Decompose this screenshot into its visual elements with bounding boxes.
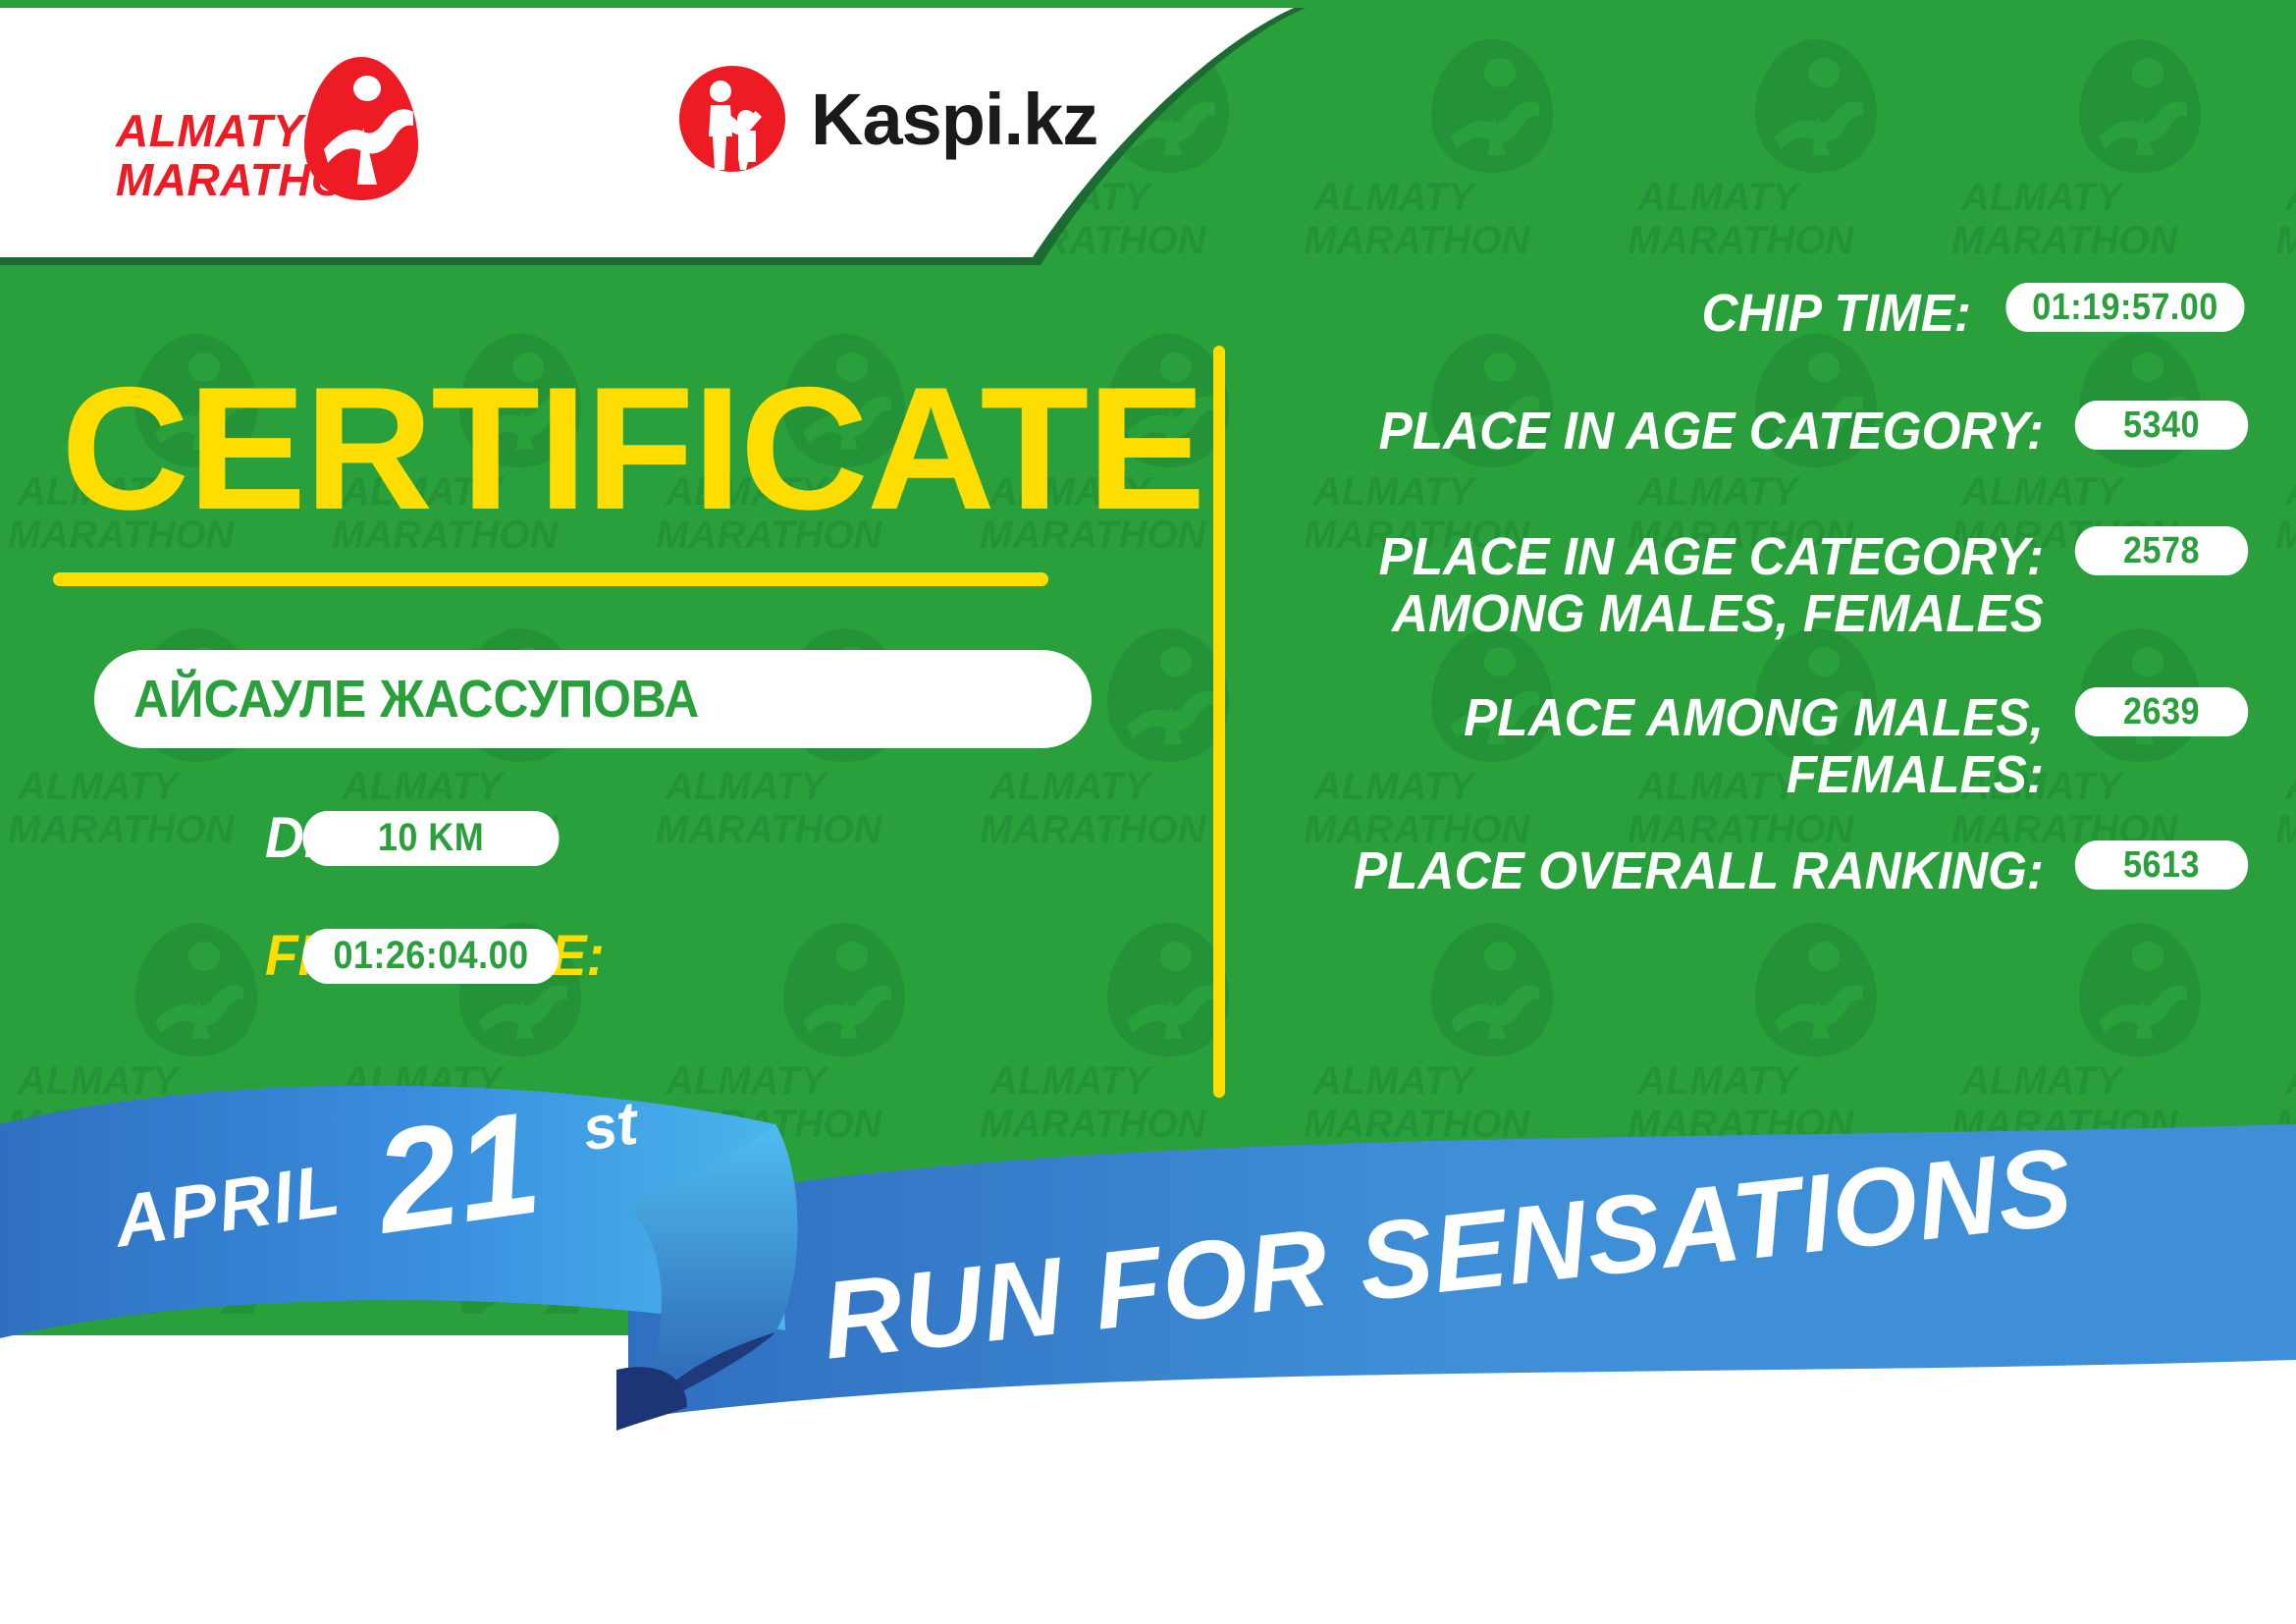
place-age-value: 5340 [2075, 401, 2248, 450]
result-row-place-gender: PLACE AMONG MALES, FEMALES: 2639 [1266, 687, 2258, 803]
title-underline-rule [53, 572, 1048, 586]
finish-time-value: 01:26:04.00 [303, 929, 560, 984]
distance-row: DISTANCE: 10 KM [265, 805, 573, 871]
result-row-place-age: PLACE IN AGE CATEGORY: 5340 [1266, 401, 2258, 460]
header-logos: ALMATY MARATHON [0, 8, 1178, 263]
kaspi-wordmark: Kaspi.kz [811, 78, 1097, 161]
finish-time-row: FINISH TIME: 01:26:04.00 [265, 923, 573, 989]
result-row-place-overall: PLACE OVERALL RANKING: 5613 [1266, 840, 2258, 899]
ribbon-ordinal: st [578, 1089, 641, 1165]
top-green-stripe [0, 0, 2296, 8]
athlete-name-field: АЙСАУЛЕ ЖАССУПОВА [94, 650, 1092, 748]
kaspi-logo: Kaspi.kz [677, 65, 1097, 173]
result-row-chip-time: CHIP TIME: 01:19:57.00 [1266, 283, 2258, 342]
athlete-name-value: АЙСАУЛЕ ЖАССУПОВА [133, 650, 699, 748]
place-overall-value: 5613 [2075, 840, 2248, 890]
certificate-canvas: ALMATY MARATHON ALMATY MARATHON [0, 0, 2296, 1624]
almaty-marathon-logo: ALMATY MARATHON [116, 55, 430, 217]
kaspi-mark-icon [677, 64, 787, 174]
place-age-label: PLACE IN AGE CATEGORY: [1306, 401, 2044, 460]
distance-value: 10 KM [303, 811, 560, 866]
almaty-marathon-drop-icon [302, 55, 420, 202]
chip-time-value: 01:19:57.00 [2006, 283, 2245, 332]
chip-time-label: CHIP TIME: [1302, 283, 1971, 342]
page-title: CERTIFICATE [61, 361, 1203, 536]
place-gender-label: PLACE AMONG MALES, FEMALES: [1306, 687, 2044, 803]
place-overall-label: PLACE OVERALL RANKING: [1306, 840, 2044, 899]
ribbon-day: 21 [366, 1079, 550, 1267]
place-age-gender-label: PLACE IN AGE CATEGORY: AMONG MALES, FEMA… [1306, 526, 2044, 642]
place-gender-value: 2639 [2075, 687, 2248, 736]
sponsor-bar: Sulpak SANOFI Empowering Life ORIFLAME S… [0, 1394, 2296, 1624]
vertical-divider [1213, 346, 1225, 1098]
result-row-place-age-gender: PLACE IN AGE CATEGORY: AMONG MALES, FEMA… [1266, 526, 2258, 642]
place-age-gender-value: 2578 [2075, 526, 2248, 575]
